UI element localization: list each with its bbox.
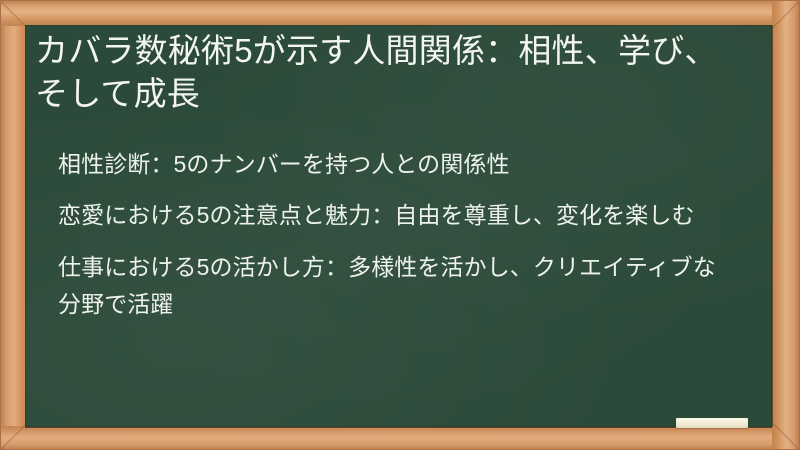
bullet-list: 相性診断：5のナンバーを持つ人との関係性 恋愛における5の注意点と魅力：自由を尊…: [58, 146, 730, 323]
slide-canvas: カバラ数秘術5が示す人間関係：相性、学び、そして成長 相性診断：5のナンバーを持…: [0, 0, 800, 450]
list-item: 恋愛における5の注意点と魅力：自由を尊重し、変化を楽しむ: [58, 197, 730, 234]
chalkboard: カバラ数秘術5が示す人間関係：相性、学び、そして成長 相性診断：5のナンバーを持…: [25, 25, 772, 427]
wooden-frame-right-rail: [772, 0, 800, 450]
list-item: 仕事における5の活かし方：多様性を活かし、クリエイティブな分野で活躍: [58, 249, 730, 324]
chalk-stick: [676, 418, 748, 428]
chalkboard-content: カバラ数秘術5が示す人間関係：相性、学び、そして成長 相性診断：5のナンバーを持…: [25, 25, 772, 427]
page-title: カバラ数秘術5が示す人間関係：相性、学び、そして成長: [35, 30, 735, 116]
list-item: 相性診断：5のナンバーを持つ人との関係性: [58, 146, 730, 183]
